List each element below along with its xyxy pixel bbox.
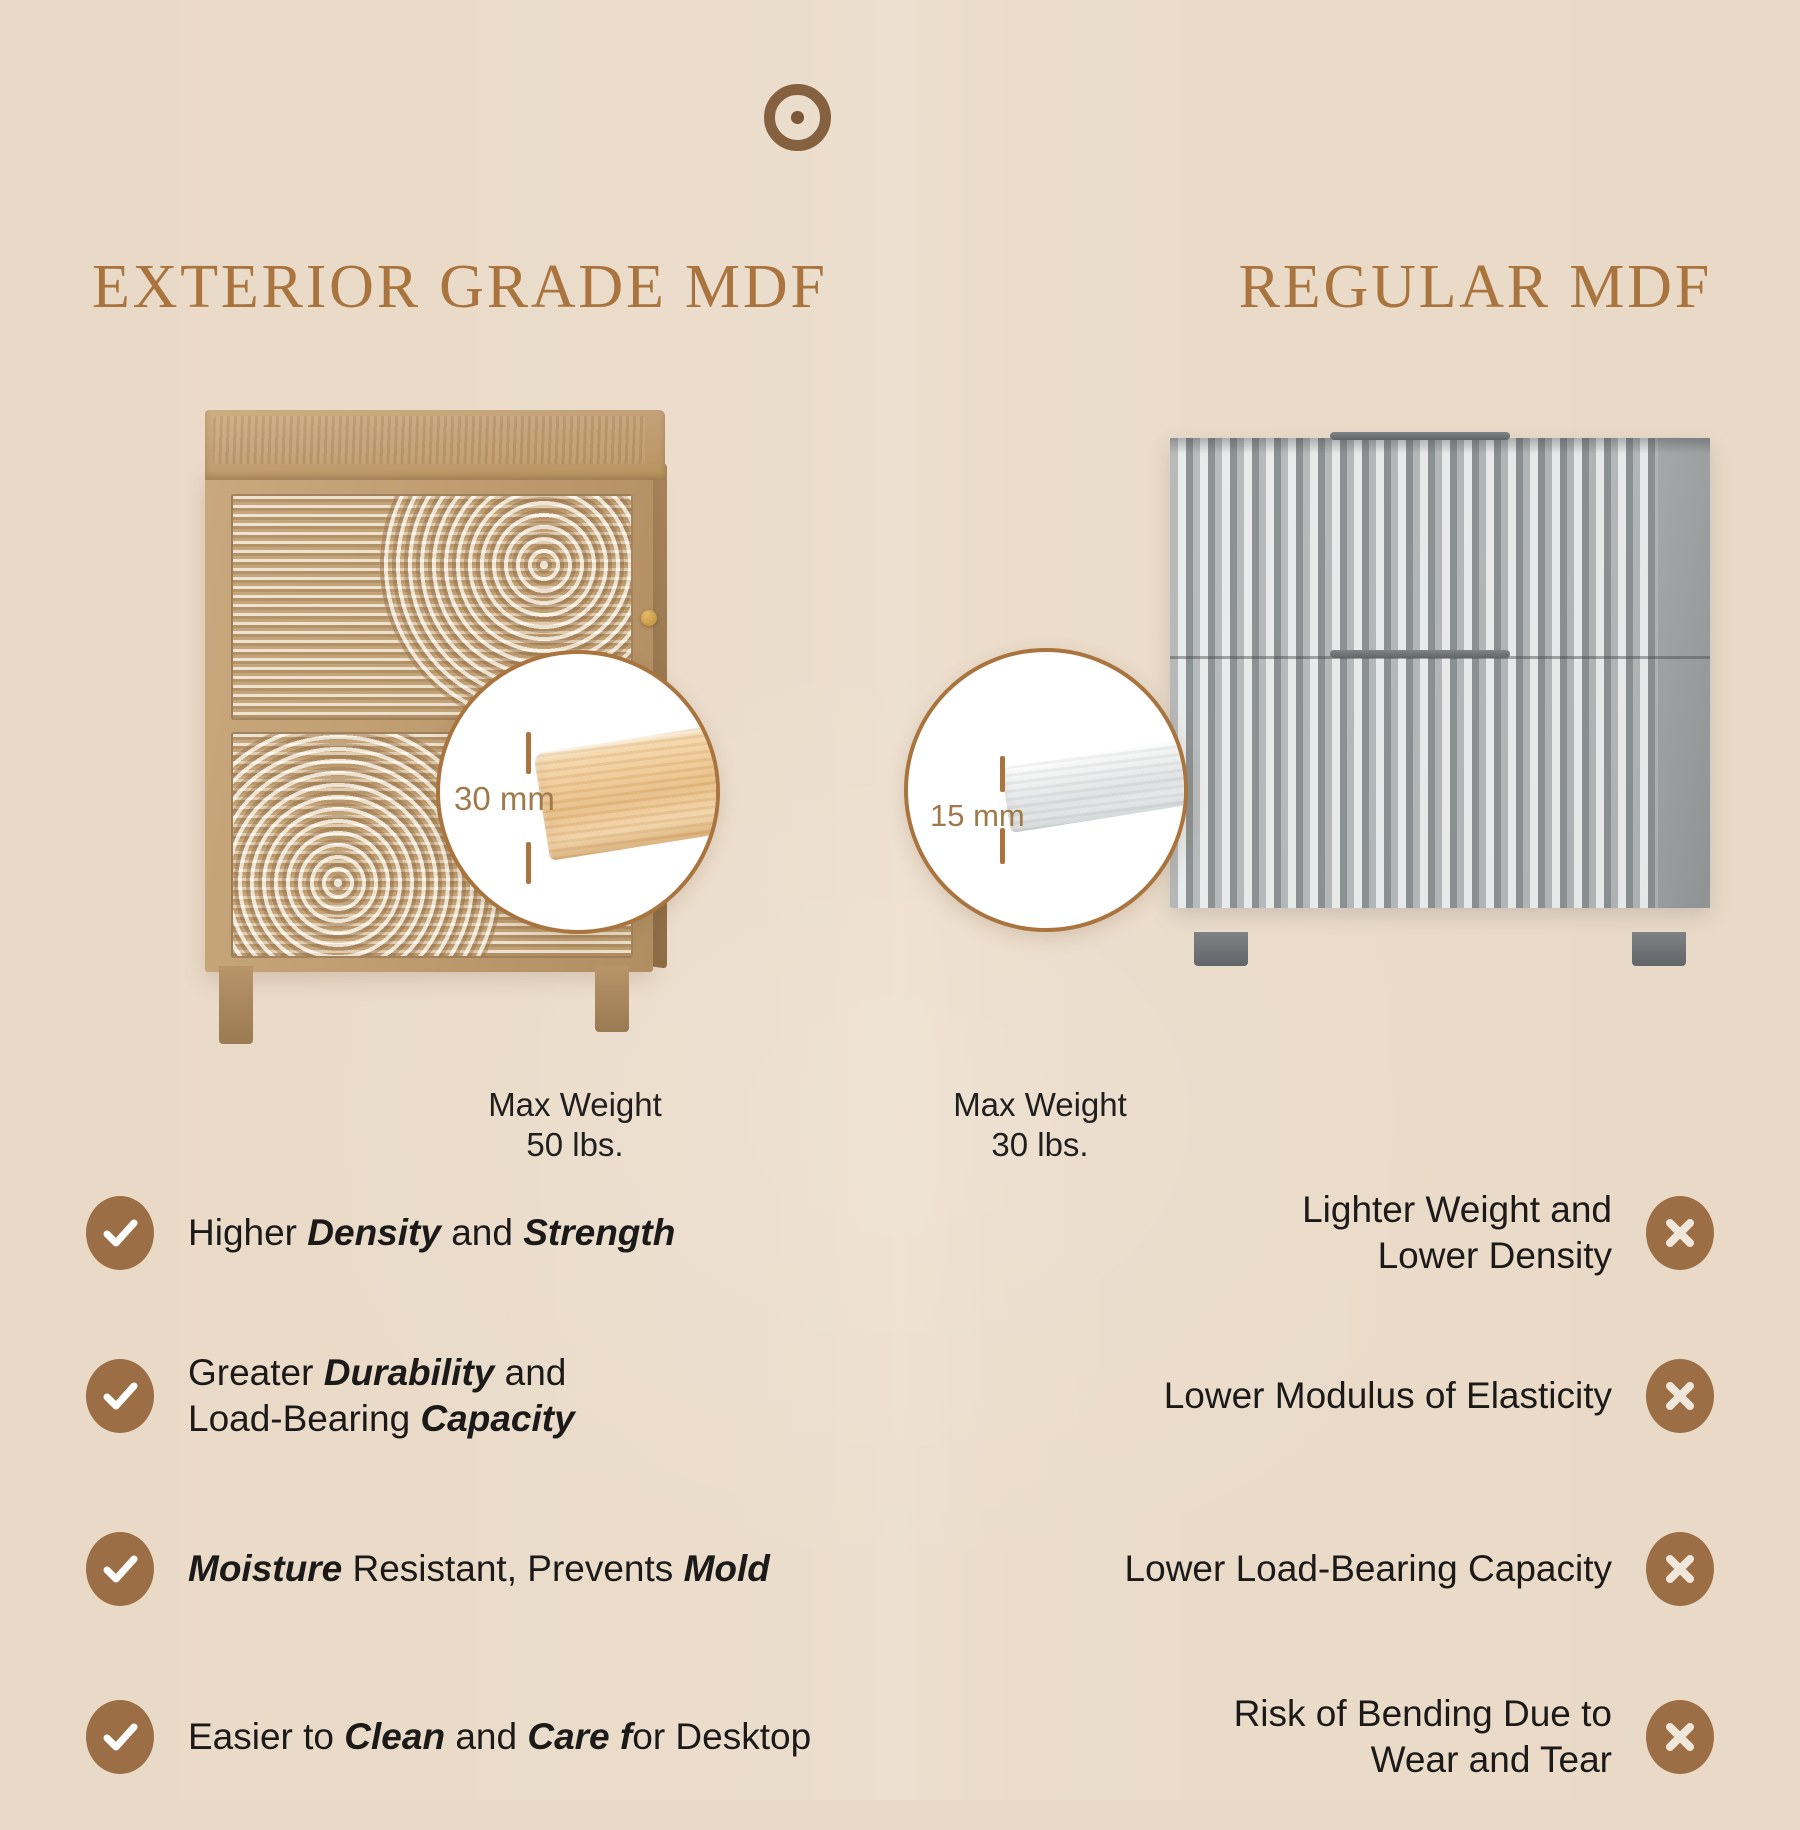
cross-icon (1646, 1532, 1714, 1606)
magnifier-regular-mdf: 15 mm (904, 648, 1188, 932)
feature-text: Lower Load-Bearing Capacity (1125, 1546, 1612, 1592)
cabinet-handle (1330, 432, 1510, 440)
nightstand-top (205, 410, 665, 480)
check-icon (86, 1700, 154, 1774)
cabinet-face (1170, 438, 1710, 908)
feature-row: Lower Load-Bearing Capacity (974, 1494, 1714, 1644)
feature-row: Moisture Resistant, Prevents Mold (86, 1494, 826, 1644)
check-icon (86, 1196, 154, 1270)
cabinet-handle (1330, 650, 1510, 658)
max-weight-caption-left: Max Weight 50 lbs. (440, 1085, 710, 1166)
feature-text: Lower Modulus of Elasticity (1164, 1373, 1612, 1419)
thickness-tick-top (526, 732, 531, 774)
feature-text: Greater Durability andLoad-Bearing Capac… (188, 1350, 575, 1442)
brand-logo-text: C ZAY H (689, 69, 1110, 165)
feature-text: Higher Density and Strength (188, 1210, 675, 1256)
thickness-label-right: 15 mm (930, 798, 1025, 834)
feature-list-regular-mdf: Lighter Weight andLower Density Lower Mo… (974, 1168, 1714, 1830)
cabinet-top-shadow (1170, 438, 1710, 454)
thickness-tick-bottom (526, 842, 531, 884)
logo-letters-zay: ZAY (841, 69, 1036, 165)
column-heading-right: REGULAR MDF (1239, 252, 1712, 323)
feature-list-exterior-grade-mdf: Higher Density and Strength Greater Dura… (86, 1168, 826, 1830)
feature-row: Higher Density and Strength (86, 1168, 826, 1298)
check-icon (86, 1359, 154, 1433)
feature-row: Easier to Clean and Care for Desktop (86, 1662, 826, 1812)
feature-row: Lower Modulus of Elasticity (974, 1316, 1714, 1476)
product-image-regular-mdf (1170, 438, 1710, 938)
logo-letter-c: C (689, 69, 764, 165)
logo-dot (791, 111, 803, 123)
feature-text: Moisture Resistant, Prevents Mold (188, 1546, 770, 1592)
column-heading-left: EXTERIOR GRADE MDF (92, 252, 828, 323)
cabinet-flutes (1178, 438, 1658, 908)
feature-row: Risk of Bending Due toWear and Tear (974, 1662, 1714, 1812)
thickness-tick-top (1000, 756, 1005, 792)
nightstand-leg (219, 966, 253, 1044)
logo-letter-h: H (1036, 69, 1111, 165)
cross-icon (1646, 1196, 1714, 1270)
board-cross-section-wood (533, 707, 720, 861)
feature-text: Risk of Bending Due toWear and Tear (1234, 1691, 1612, 1783)
board-cross-section-grey (1001, 721, 1188, 833)
feature-text: Easier to Clean and Care for Desktop (188, 1714, 811, 1760)
feature-row: Greater Durability andLoad-Bearing Capac… (86, 1316, 826, 1476)
logo-target-o-icon (764, 79, 841, 156)
check-icon (86, 1532, 154, 1606)
feature-row: Lighter Weight andLower Density (974, 1168, 1714, 1298)
cabinet-leg (1632, 932, 1686, 966)
max-weight-caption-right: Max Weight 30 lbs. (905, 1085, 1175, 1166)
cross-icon (1646, 1359, 1714, 1433)
feature-text: Lighter Weight andLower Density (1302, 1187, 1612, 1279)
magnifier-exterior-grade-mdf: 30 mm (436, 650, 720, 934)
drawer-knob (641, 610, 657, 626)
nightstand-leg (595, 966, 629, 1032)
cabinet-leg (1194, 932, 1248, 966)
thickness-label-left: 30 mm (454, 780, 555, 818)
cross-icon (1646, 1700, 1714, 1774)
brand-logo: C ZAY H (0, 62, 1800, 172)
